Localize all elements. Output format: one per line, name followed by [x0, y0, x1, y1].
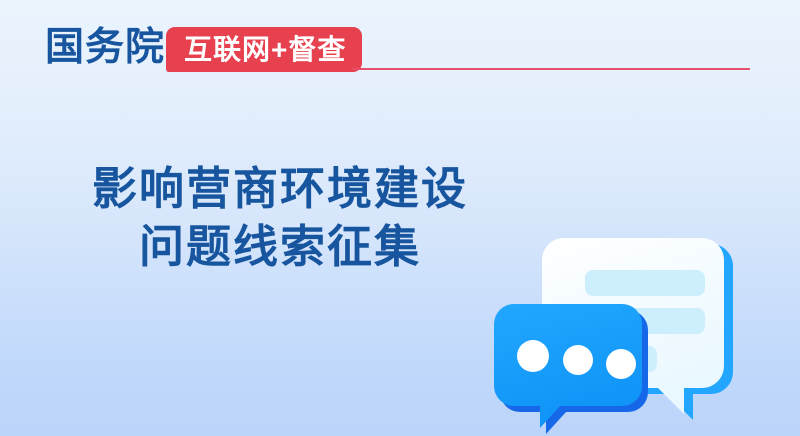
header-divider-rule	[352, 68, 750, 70]
gov-council-logo-text: 国务院	[45, 24, 165, 72]
page-title-line-1: 影响营商环境建设	[0, 160, 560, 218]
chat-bubbles-illustration	[488, 222, 748, 436]
header-bar: 国务院 互联网+督查	[0, 0, 800, 96]
program-badge-label: 互联网+督查	[184, 35, 346, 65]
program-badge: 互联网+督查	[166, 27, 362, 72]
banner-image: 国务院 互联网+督查 影响营商环境建设 问题线索征集	[0, 0, 800, 436]
page-title-line-2: 问题线索征集	[0, 218, 560, 276]
page-title: 影响营商环境建设 问题线索征集	[0, 160, 560, 276]
